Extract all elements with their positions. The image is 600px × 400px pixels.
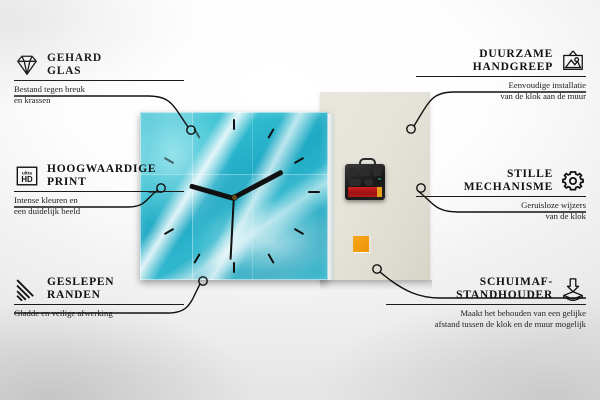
feature-title-line2: MECHANISME xyxy=(464,181,553,193)
feature-divider xyxy=(14,191,184,192)
feature-title-line1: HOOGWAARDIGE xyxy=(47,163,156,175)
feature-divider xyxy=(386,304,586,305)
feature-desc-line1: Intense kleuren en xyxy=(14,195,78,205)
feature-gehard-glas: GEHARD GLAS Bestand tegen breuk en krass… xyxy=(14,52,184,105)
feature-desc-line1: Geruisloze wijzers xyxy=(521,200,586,210)
feature-title-line2: HANDGREEP xyxy=(473,61,553,73)
feature-desc-line2: een duidelijk beeld xyxy=(14,206,80,216)
feature-title-line2: GLAS xyxy=(47,65,81,77)
feature-stille-mechanisme: STILLE MECHANISME Geruisloze wijzers van… xyxy=(416,168,586,221)
feature-geslepen-randen: GESLEPEN RANDEN Gladde en veilige afwerk… xyxy=(14,276,184,319)
feature-desc-line1: Eenvoudige installatie xyxy=(509,80,586,90)
beveled-edges-icon xyxy=(14,277,40,301)
feature-desc-line2: van de klok aan de muur xyxy=(500,91,586,101)
feature-desc-line2: afstand tussen de klok en de muur mogeli… xyxy=(435,319,586,329)
feature-divider xyxy=(14,80,184,81)
feature-title-line2: PRINT xyxy=(47,176,87,188)
foam-spacer xyxy=(353,236,369,252)
feature-title-line2: RANDEN xyxy=(47,289,101,301)
feature-title-line1: DUURZAME xyxy=(479,48,553,60)
feature-desc-line2: van de klok xyxy=(545,211,586,221)
feature-desc-line1: Bestand tegen breuk xyxy=(14,84,85,94)
spacer-press-icon xyxy=(560,277,586,301)
feature-desc-line1: Gladde en veilige afwerking xyxy=(14,308,113,318)
foam-spacer-side xyxy=(369,238,374,254)
feature-title-line1: GEHARD xyxy=(47,52,102,64)
feature-title-line1: SCHUIMAF- xyxy=(480,276,553,288)
feature-hoogwaardige-print: ultra HD HOOGWAARDIGE PRINT Intense kleu… xyxy=(14,163,184,216)
hanging-picture-icon xyxy=(560,49,586,73)
clock-glass-side xyxy=(328,114,334,280)
gear-icon xyxy=(560,169,586,193)
movement-indicator xyxy=(378,178,381,180)
feature-desc-line2: en krassen xyxy=(14,95,50,105)
feature-title-line2: STANDHOUDER xyxy=(456,289,553,301)
diamond-icon xyxy=(14,53,40,77)
feature-title-line1: STILLE xyxy=(507,168,553,180)
battery-terminal xyxy=(377,187,382,197)
feature-divider xyxy=(14,304,184,305)
svg-text:HD: HD xyxy=(21,175,33,184)
ultra-hd-icon: ultra HD xyxy=(14,164,40,188)
infographic-stage: GEHARD GLAS Bestand tegen breuk en krass… xyxy=(0,0,600,400)
feature-desc-line1: Maakt het behouden van een gelijke xyxy=(460,308,586,318)
feature-divider xyxy=(416,196,586,197)
feature-duurzame-handgreep: DUURZAME HANDGREEP Eenvoudige installati… xyxy=(416,48,586,101)
feature-schuimafstandhouder: SCHUIMAF- STANDHOUDER Maakt het behouden… xyxy=(386,276,586,329)
feature-title-line1: GESLEPEN xyxy=(47,276,114,288)
feature-divider xyxy=(416,76,586,77)
